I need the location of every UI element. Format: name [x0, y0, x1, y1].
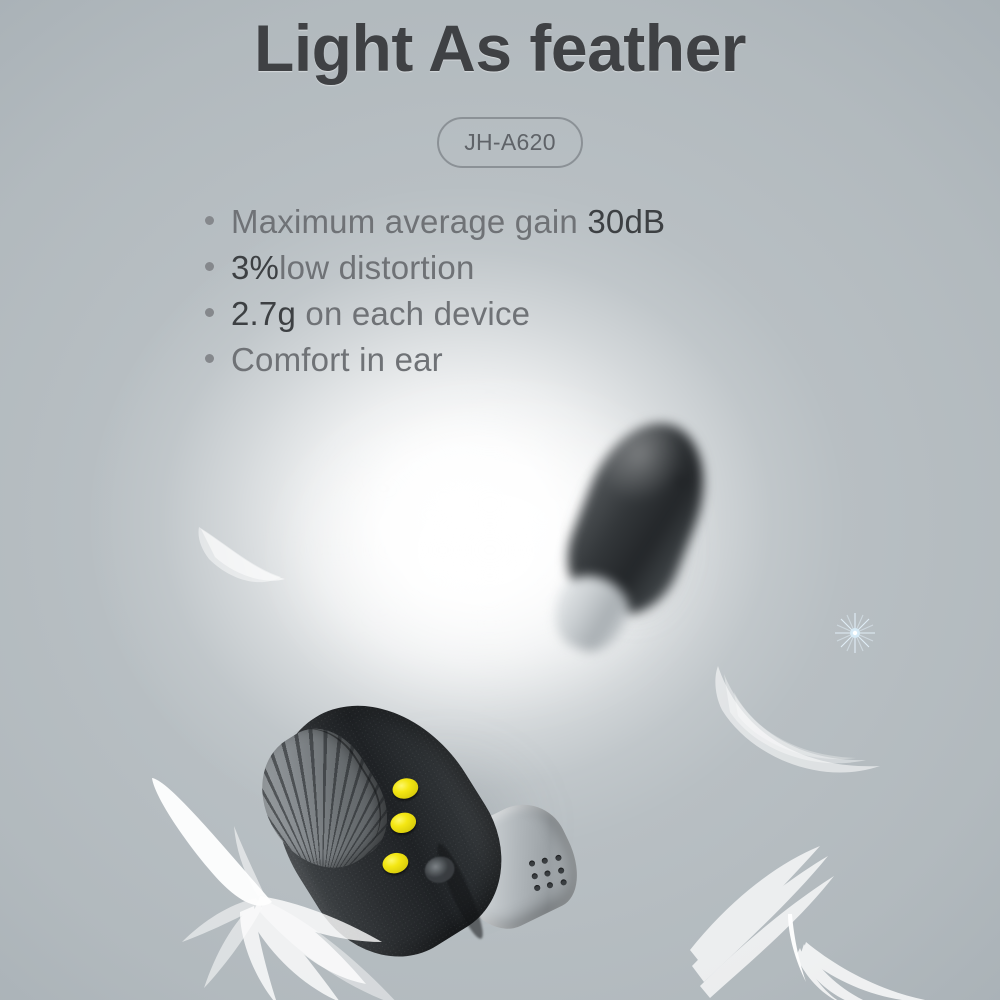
list-item: 3% low distortion	[205, 249, 905, 295]
feature-list: Maximum average gain 30dB 3% low distort…	[205, 203, 905, 387]
bullet-dot-icon	[205, 216, 214, 225]
list-item: 2.7g on each device	[205, 295, 905, 341]
feature-label: low distortion	[279, 249, 474, 287]
bullet-dot-icon	[205, 308, 214, 317]
model-badge: JH-A620	[437, 117, 583, 168]
page-title: Light As feather	[0, 10, 1000, 86]
feature-emphasis: 30dB	[587, 203, 665, 241]
bullet-dot-icon	[205, 262, 214, 271]
feature-emphasis: 2.7g	[231, 295, 296, 333]
product-poster: Light As feather JH-A620 Maximum average…	[0, 0, 1000, 1000]
feature-label: Comfort in ear	[231, 341, 443, 379]
list-item: Comfort in ear	[205, 341, 905, 387]
model-badge-label: JH-A620	[464, 129, 556, 156]
feature-emphasis: 3%	[231, 249, 279, 287]
feature-label: Maximum average gain	[231, 203, 587, 241]
feature-label: on each device	[296, 295, 530, 333]
list-item: Maximum average gain 30dB	[205, 203, 905, 249]
bullet-dot-icon	[205, 354, 214, 363]
